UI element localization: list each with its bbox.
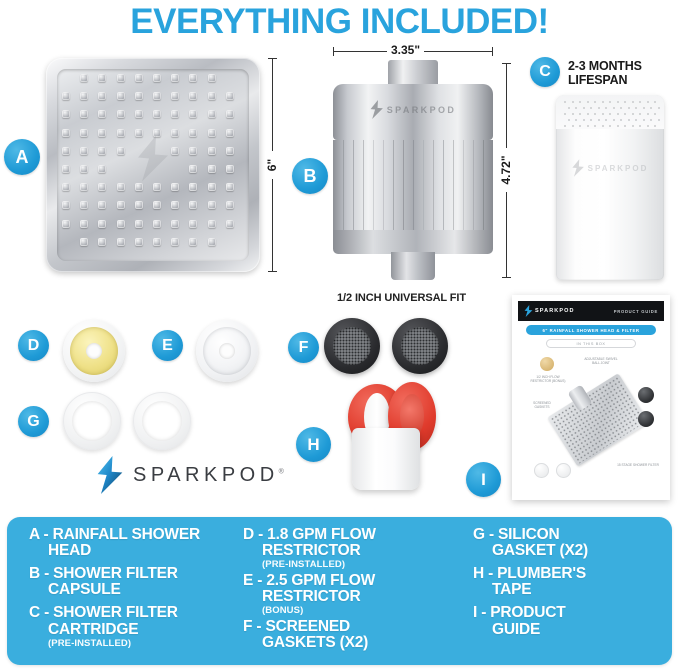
cartridge-hole (572, 101, 574, 103)
legend-item: G - SILICONGASKET (X2) (473, 527, 668, 559)
capsule-ridge (363, 140, 364, 230)
legend-item-line: C - SHOWER FILTER (29, 605, 241, 621)
cartridge-hole (643, 107, 645, 109)
nozzle (189, 74, 197, 82)
gasket-mesh (401, 327, 439, 365)
cartridge-hole (605, 107, 607, 109)
nozzle (189, 201, 197, 209)
nozzle (208, 238, 216, 246)
legend-item-line: GASKET (X2) (473, 543, 668, 559)
flow-restrictor-25gpm (196, 320, 258, 382)
cartridge-hole (590, 119, 592, 121)
cartridge-hole (587, 101, 589, 103)
registered-mark: ® (279, 468, 284, 475)
infographic-canvas: EVERYTHING INCLUDED! A 6" 3.35" SPAR (0, 0, 679, 672)
nozzle (135, 110, 143, 118)
legend-item-note: (PRE-INSTALLED) (29, 638, 241, 650)
badge-i: I (466, 462, 501, 497)
cartridge-hole (602, 125, 604, 127)
nozzle (98, 110, 106, 118)
nozzle (153, 74, 161, 82)
capsule-ridge (443, 140, 444, 230)
nozzle (189, 238, 197, 246)
legend-item: E - 2.5 GPM FLOWRESTRICTOR(BONUS) (243, 573, 455, 617)
nozzle (171, 201, 179, 209)
cartridge-hole (587, 125, 589, 127)
nozzle (80, 201, 88, 209)
screened-gasket-2 (392, 318, 448, 374)
nozzle (62, 92, 70, 100)
nozzle (171, 147, 179, 155)
nozzle (208, 201, 216, 209)
nozzle (98, 74, 106, 82)
capsule-height-label: 4.72" (499, 148, 513, 192)
sparkpod-logo: SPARKPOD® (96, 456, 284, 494)
cartridge-hole (658, 107, 660, 109)
capsule-ridged-body (333, 140, 493, 230)
nozzle (62, 147, 70, 155)
lifespan-line-1: 2-3 MONTHS (568, 59, 642, 73)
nozzle (135, 201, 143, 209)
capsule-ridge (433, 140, 434, 230)
cartridge-hole (617, 101, 619, 103)
legend-item-line: CAPSULE (29, 582, 241, 598)
legend-item-line: H - PLUMBER'S (473, 566, 668, 582)
cartridge-hole (613, 107, 615, 109)
nozzle (208, 165, 216, 173)
nozzle (80, 110, 88, 118)
badge-e: E (152, 330, 183, 361)
capsule-base-skirt (333, 230, 493, 254)
guide-small-part-2 (556, 463, 571, 478)
guide-note-filter: 15 STAGE SHOWER FILTER (616, 463, 660, 467)
cartridge-hole (620, 119, 622, 121)
plumbers-tape-spool-front (352, 428, 420, 490)
nozzle (171, 110, 179, 118)
cartridge-hole (609, 101, 611, 103)
nozzle (171, 183, 179, 191)
nozzle (189, 110, 197, 118)
sparkpod-bolt-icon (524, 305, 533, 317)
legend-item-line: E - 2.5 GPM FLOW (243, 573, 455, 589)
cartridge-hole (654, 101, 656, 103)
nozzle (189, 92, 197, 100)
silicone-gasket-2 (133, 392, 191, 450)
badge-h: H (296, 427, 331, 462)
nozzle (117, 183, 125, 191)
cartridge-hole (602, 101, 604, 103)
capsule-ridge (413, 140, 414, 230)
badge-c: C (530, 57, 560, 87)
guide-restrictor-thumb (540, 357, 554, 371)
cartridge-hole (628, 107, 630, 109)
nozzle (153, 220, 161, 228)
guide-note-side: SCREENED GASKETS (526, 401, 558, 409)
cartridge-brand-text: SPARKPOD (588, 164, 649, 173)
nozzle (80, 238, 88, 246)
guide-note-arrow: ADJUSTABLE SWIVEL BALL JOINT (584, 357, 618, 365)
capsule-ridge (403, 140, 404, 230)
nozzle (98, 220, 106, 228)
legend-item-note: (PRE-INSTALLED) (243, 559, 455, 571)
badge-g-label: G (27, 413, 39, 431)
nozzle (171, 238, 179, 246)
cartridge-hole (613, 119, 615, 121)
badge-a: A (4, 139, 40, 175)
guide-brand-text: SPARKPOD (535, 308, 575, 314)
nozzle (98, 147, 106, 155)
nozzle (226, 92, 234, 100)
nozzle (171, 74, 179, 82)
nozzle (171, 92, 179, 100)
nozzle (153, 110, 161, 118)
cartridge-hole (658, 119, 660, 121)
cartridge-hole (575, 119, 577, 121)
capsule-brand-text: SPARKPOD (387, 105, 457, 115)
cartridge-hole (579, 113, 581, 115)
product-guide-sheet: SPARKPOD PRODUCT GUIDE 6" RAINFALL SHOWE… (512, 295, 670, 500)
capsule-ridge (453, 140, 454, 230)
nozzle (208, 183, 216, 191)
badge-b-label: B (304, 166, 317, 187)
cartridge-hole (594, 125, 596, 127)
legend-item-line: B - SHOWER FILTER (29, 566, 241, 582)
cartridge-hole (647, 125, 649, 127)
nozzle (189, 147, 197, 155)
nozzle (117, 147, 125, 155)
sparkpod-wordmark: SPARKPOD® (133, 464, 284, 487)
guide-subbanner: IN THIS BOX (546, 339, 636, 348)
cartridge-hole (632, 101, 634, 103)
badge-d: D (18, 330, 49, 361)
shower-filter-capsule: SPARKPOD (333, 60, 493, 285)
silicone-gasket-1 (63, 392, 121, 450)
cartridge-hole (602, 113, 604, 115)
legend-item: D - 1.8 GPM FLOWRESTRICTOR(PRE-INSTALLED… (243, 527, 455, 571)
cartridge-perforations (556, 95, 664, 129)
cartridge-hole (639, 113, 641, 115)
capsule-ridge (423, 140, 424, 230)
cartridge-hole (564, 101, 566, 103)
cartridge-hole (635, 107, 637, 109)
flow-restrictor-18gpm (63, 320, 125, 382)
capsule-ridge (353, 140, 354, 230)
legend-item: A - RAINFALL SHOWERHEAD (29, 527, 241, 559)
nozzle (98, 201, 106, 209)
cartridge-hole (654, 113, 656, 115)
nozzle (189, 165, 197, 173)
sparkpod-wordmark-text: SPARKPOD (133, 464, 279, 486)
capsule-ridge (383, 140, 384, 230)
nozzle (117, 201, 125, 209)
legend-column-1: A - RAINFALL SHOWERHEADB - SHOWER FILTER… (29, 527, 241, 652)
universal-fit-label: 1/2 INCH UNIVERSAL FIT (337, 292, 466, 304)
screened-gasket-1 (324, 318, 380, 374)
sparkpod-bolt-icon (572, 159, 585, 177)
legend-item: H - PLUMBER'STAPE (473, 566, 668, 598)
legend-item-line: CARTRIDGE (29, 622, 241, 638)
capsule-ridge (373, 140, 374, 230)
cartridge-hole (572, 125, 574, 127)
nozzle (117, 110, 125, 118)
cartridge-hole (594, 101, 596, 103)
guide-note-coin: 1/2 INCH FLOW RESTRICTOR (BONUS) (528, 375, 568, 383)
nozzle (62, 129, 70, 137)
cartridge-hole (609, 113, 611, 115)
badge-a-label: A (16, 147, 29, 168)
legend-item-line: G - SILICON (473, 527, 668, 543)
nozzle (189, 129, 197, 137)
nozzle (80, 147, 88, 155)
legend-item-line: HEAD (29, 543, 241, 559)
cartridge-hole (650, 119, 652, 121)
head-height-label: 6" (265, 151, 279, 179)
restrictor-center-hole (86, 343, 102, 359)
cartridge-hole (583, 119, 585, 121)
legend-item-line: A - RAINFALL SHOWER (29, 527, 241, 543)
badge-f-label: F (299, 339, 309, 357)
legend-item-line: GASKETS (X2) (243, 635, 455, 651)
legend-item-line: F - SCREENED (243, 619, 455, 635)
badge-d-label: D (28, 337, 40, 355)
nozzle (208, 220, 216, 228)
cartridge-hole (587, 113, 589, 115)
nozzle (62, 201, 70, 209)
cartridge-hole (605, 119, 607, 121)
nozzle (226, 147, 234, 155)
cartridge-hole (617, 113, 619, 115)
nozzle (98, 92, 106, 100)
legend-item: F - SCREENEDGASKETS (X2) (243, 619, 455, 651)
legend-item: C - SHOWER FILTERCARTRIDGE(PRE-INSTALLED… (29, 605, 241, 649)
legend-column-2: D - 1.8 GPM FLOWRESTRICTOR(PRE-INSTALLED… (243, 527, 455, 658)
nozzle (98, 165, 106, 173)
nozzle (189, 220, 197, 228)
capsule-ridges (333, 140, 493, 230)
nozzle (208, 129, 216, 137)
nozzle (98, 238, 106, 246)
capsule-ridge (473, 140, 474, 230)
cartridge-hole (575, 107, 577, 109)
nozzle (135, 220, 143, 228)
cartridge-hole (643, 119, 645, 121)
badge-f: F (288, 332, 319, 363)
shower-head-face (57, 69, 249, 261)
guide-showerhead-illustration (547, 373, 649, 467)
nozzle (153, 201, 161, 209)
cartridge-hole (639, 101, 641, 103)
nozzle (117, 220, 125, 228)
cartridge-hole (617, 125, 619, 127)
cartridge-hole (564, 125, 566, 127)
nozzle (226, 201, 234, 209)
cartridge-hole (594, 113, 596, 115)
nozzle (153, 238, 161, 246)
nozzle (117, 238, 125, 246)
nozzle (153, 92, 161, 100)
legend-item-line: GUIDE (473, 622, 668, 638)
nozzle (135, 92, 143, 100)
filter-cartridge: SPARKPOD (556, 95, 664, 280)
capsule-ridge (343, 140, 344, 230)
capsule-thread-fitting (391, 252, 435, 280)
guide-small-part-1 (534, 463, 549, 478)
nozzle (208, 74, 216, 82)
nozzle (208, 110, 216, 118)
sparkpod-bolt-icon (370, 100, 384, 119)
legend-item: B - SHOWER FILTERCAPSULE (29, 566, 241, 598)
nozzle (80, 183, 88, 191)
guide-corner-label: PRODUCT GUIDE (614, 309, 658, 314)
capsule-ridge (393, 140, 394, 230)
legend-item-line: TAPE (473, 582, 668, 598)
legend-item-line: D - 1.8 GPM FLOW (243, 527, 455, 543)
nozzle (98, 129, 106, 137)
guide-banner: 6" RAINFALL SHOWER HEAD & FILTER (526, 325, 656, 335)
legend-item-line: RESTRICTOR (243, 543, 455, 559)
restrictor-center-hole (219, 343, 235, 359)
nozzle (80, 220, 88, 228)
legend-panel: A - RAINFALL SHOWERHEADB - SHOWER FILTER… (7, 517, 672, 665)
nozzle (226, 110, 234, 118)
nozzle (80, 92, 88, 100)
legend-item-line: I - PRODUCT (473, 605, 668, 621)
nozzle (117, 129, 125, 137)
page-title: EVERYTHING INCLUDED! (0, 2, 679, 42)
guide-header-bar: SPARKPOD PRODUCT GUIDE (518, 301, 664, 321)
sparkpod-bolt-icon (136, 136, 170, 187)
cartridge-hole (628, 119, 630, 121)
nozzle (135, 238, 143, 246)
nozzle (62, 110, 70, 118)
gasket-mesh (333, 327, 371, 365)
badge-e-label: E (162, 337, 173, 355)
nozzle (80, 165, 88, 173)
guide-gasket-thumb-1 (638, 387, 654, 403)
cartridge-hole (579, 125, 581, 127)
cartridge-hole (583, 107, 585, 109)
guide-gasket-thumb-2 (638, 411, 654, 427)
badge-h-label: H (307, 435, 319, 455)
cartridge-hole (650, 107, 652, 109)
cartridge-hole (624, 113, 626, 115)
capsule-brand-logo: SPARKPOD (370, 100, 457, 119)
rainfall-shower-head (46, 58, 260, 272)
nozzle (226, 183, 234, 191)
cartridge-hole (632, 113, 634, 115)
nozzle (171, 220, 179, 228)
badge-g: G (18, 406, 49, 437)
cartridge-hole (624, 125, 626, 127)
cartridge-hole (620, 107, 622, 109)
cartridge-hole (564, 113, 566, 115)
lifespan-note: 2-3 MONTHS LIFESPAN (568, 59, 642, 87)
cartridge-hole (590, 107, 592, 109)
nozzle (80, 74, 88, 82)
nozzle (117, 92, 125, 100)
badge-i-label: I (481, 470, 486, 490)
legend-column-3: G - SILICONGASKET (X2)H - PLUMBER'STAPEI… (473, 527, 668, 645)
nozzle (226, 165, 234, 173)
legend-item-line: RESTRICTOR (243, 589, 455, 605)
cartridge-hole (598, 119, 600, 121)
nozzle (62, 220, 70, 228)
legend-item-note: (BONUS) (243, 605, 455, 617)
nozzle (226, 220, 234, 228)
legend-item: I - PRODUCTGUIDE (473, 605, 668, 637)
lifespan-line-2: LIFESPAN (568, 73, 642, 87)
cartridge-hole (568, 107, 570, 109)
cartridge-hole (624, 101, 626, 103)
cartridge-hole (635, 119, 637, 121)
badge-b: B (292, 158, 328, 194)
badge-c-label: C (539, 63, 551, 81)
guide-brand: SPARKPOD (524, 305, 575, 317)
capsule-ridge (483, 140, 484, 230)
nozzle (208, 92, 216, 100)
cartridge-hole (598, 107, 600, 109)
nozzle (117, 74, 125, 82)
capsule-width-label: 3.35" (387, 43, 424, 57)
nozzle (80, 129, 88, 137)
sparkpod-bolt-icon (96, 456, 124, 494)
cartridge-hole (654, 125, 656, 127)
nozzle (62, 183, 70, 191)
cartridge-hole (568, 119, 570, 121)
capsule-ridge (463, 140, 464, 230)
nozzle (189, 183, 197, 191)
nozzle (98, 183, 106, 191)
cartridge-hole (579, 101, 581, 103)
cartridge-hole (632, 125, 634, 127)
nozzle (62, 165, 70, 173)
cartridge-hole (609, 125, 611, 127)
nozzle (135, 74, 143, 82)
nozzle (208, 147, 216, 155)
cartridge-hole (572, 113, 574, 115)
cartridge-hole (647, 113, 649, 115)
cartridge-brand-logo: SPARKPOD (572, 159, 649, 177)
guide-nozzle-pattern (550, 376, 646, 464)
cartridge-hole (639, 125, 641, 127)
nozzle (171, 129, 179, 137)
cartridge-hole (647, 101, 649, 103)
nozzle (226, 129, 234, 137)
capsule-top-collar (388, 60, 438, 86)
